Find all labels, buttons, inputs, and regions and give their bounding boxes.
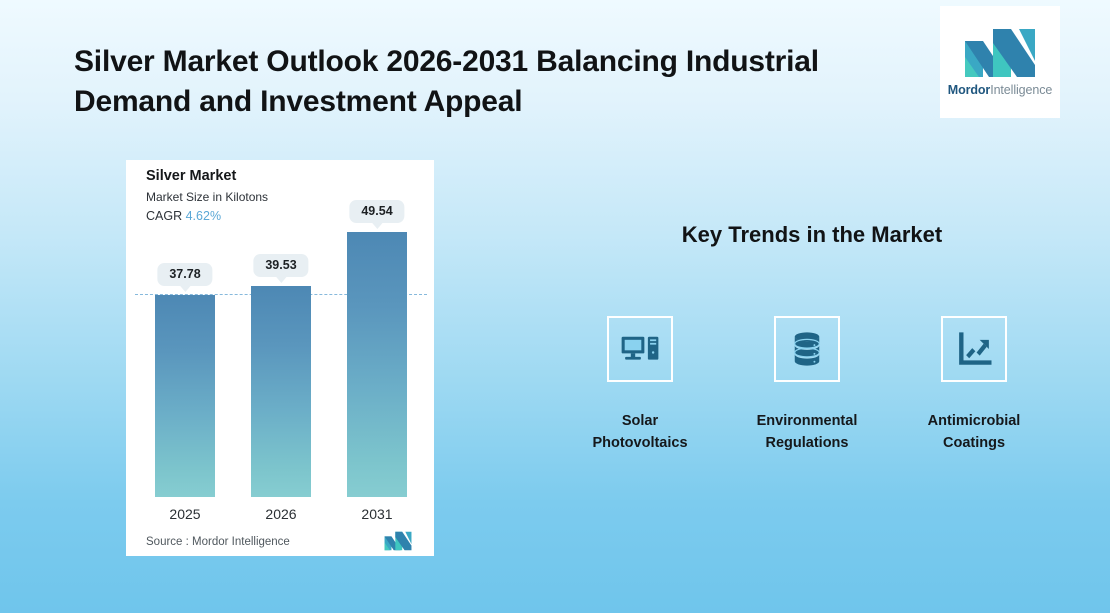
chart-x-tick-label: 2025	[169, 506, 200, 522]
trend-item-environmental-regulations: Environmental Regulations	[722, 316, 892, 455]
mordor-logo-mark	[963, 27, 1037, 79]
trend-label: Antimicrobial Coatings	[889, 411, 1059, 455]
chart-card: Silver Market Market Size in Kilotons CA…	[126, 160, 434, 556]
chart-bar[interactable]	[155, 295, 215, 497]
chart-source: Source : Mordor Intelligence	[146, 536, 290, 548]
chart-bar[interactable]	[347, 232, 407, 497]
trend-label: Environmental Regulations	[722, 411, 892, 455]
page-title: Silver Market Outlook 2026-2031 Balancin…	[74, 42, 834, 122]
bar-chart-plot: 37.78202539.53202649.542031	[126, 160, 434, 556]
trend-item-solar-photovoltaics: Solar Photovoltaics	[555, 316, 725, 455]
source-name: Mordor Intelligence	[192, 536, 290, 548]
trend-label-line2: Photovoltaics	[555, 433, 725, 455]
brand-name-light: Intelligence	[990, 83, 1052, 97]
trend-item-antimicrobial-coatings: Antimicrobial Coatings	[889, 316, 1059, 455]
trend-label-line1: Solar	[555, 411, 725, 433]
brand-logo: MordorIntelligence	[940, 6, 1060, 118]
desktop-computer-icon	[619, 328, 661, 370]
chart-bar[interactable]	[251, 286, 311, 497]
trend-label-line1: Environmental	[722, 411, 892, 433]
brand-logo-text: MordorIntelligence	[948, 83, 1053, 97]
trend-label-line2: Coatings	[889, 433, 1059, 455]
chart-bar-value-label: 49.54	[349, 200, 404, 223]
brand-name-bold: Mordor	[948, 83, 990, 97]
database-stack-icon	[786, 328, 828, 370]
trend-icon-frame	[607, 316, 673, 382]
key-trends-heading: Key Trends in the Market	[657, 222, 967, 248]
chart-x-tick-label: 2031	[361, 506, 392, 522]
trend-label-line1: Antimicrobial	[889, 411, 1059, 433]
source-logo-mark	[382, 531, 414, 551]
trend-label: Solar Photovoltaics	[555, 411, 725, 455]
chart-bar-value-label: 39.53	[253, 254, 308, 277]
source-label: Source :	[146, 536, 189, 548]
growth-chart-icon	[953, 328, 995, 370]
trend-icon-frame	[774, 316, 840, 382]
chart-x-tick-label: 2026	[265, 506, 296, 522]
trend-icon-frame	[941, 316, 1007, 382]
chart-bar-value-label: 37.78	[157, 263, 212, 286]
trend-label-line2: Regulations	[722, 433, 892, 455]
